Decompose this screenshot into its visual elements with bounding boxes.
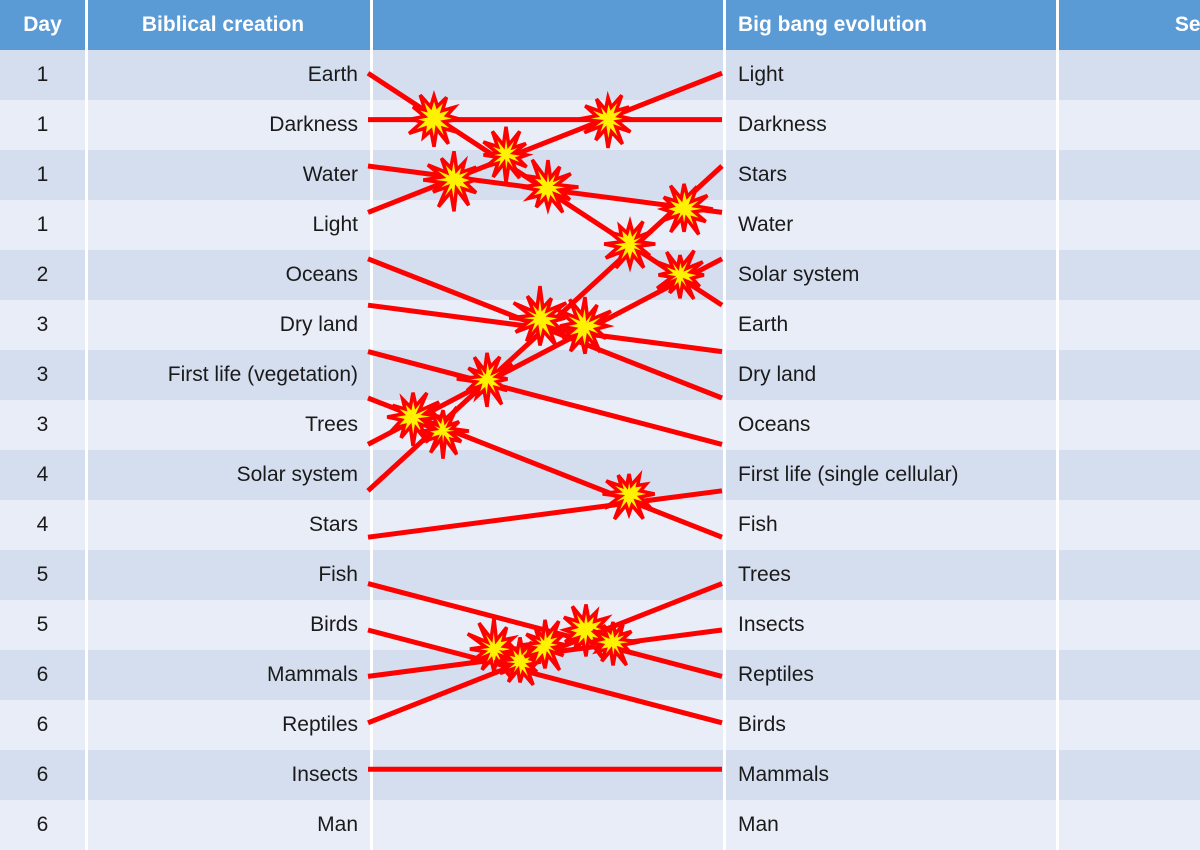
table-row-connector-11 xyxy=(373,550,723,600)
table-row-day-15: 6 xyxy=(0,750,85,800)
table-row-sequence-6: 6 xyxy=(1059,300,1200,350)
table-row-biblical-6: Dry land xyxy=(88,300,370,350)
table-row-bigbang-12: Insects xyxy=(726,600,1056,650)
table-row-biblical-7: First life (vegetation) xyxy=(88,350,370,400)
column-header-sequence: Sequence xyxy=(1059,0,1200,50)
table-row-bigbang-10: Fish xyxy=(726,500,1056,550)
table-row-connector-7 xyxy=(373,350,723,400)
column-header-biblical-creation: Biblical creation xyxy=(88,0,370,50)
column-header-big-bang-evolution: Big bang evolution xyxy=(726,0,1056,50)
table-row-connector-12 xyxy=(373,600,723,650)
table-row-sequence-5: 5 xyxy=(1059,250,1200,300)
comparison-table: DayBiblical creationBig bang evolutionSe… xyxy=(0,0,1200,792)
table-row-connector-5 xyxy=(373,250,723,300)
table-row-day-12: 5 xyxy=(0,600,85,650)
table-row-connector-14 xyxy=(373,700,723,750)
table-row-sequence-9: 9 xyxy=(1059,450,1200,500)
table-row-biblical-4: Light xyxy=(88,200,370,250)
column-header-connectors xyxy=(373,0,723,50)
column-header-day: Day xyxy=(0,0,85,50)
table-row-sequence-16: 16 xyxy=(1059,800,1200,850)
table-row-sequence-14: 14 xyxy=(1059,700,1200,750)
table-row-connector-9 xyxy=(373,450,723,500)
table-row-connector-10 xyxy=(373,500,723,550)
table-row-bigbang-16: Man xyxy=(726,800,1056,850)
table-row-day-7: 3 xyxy=(0,350,85,400)
table-row-biblical-8: Trees xyxy=(88,400,370,450)
table-row-connector-2 xyxy=(373,100,723,150)
table-row-bigbang-15: Mammals xyxy=(726,750,1056,800)
table-row-day-13: 6 xyxy=(0,650,85,700)
table-row-bigbang-2: Darkness xyxy=(726,100,1056,150)
table-row-day-4: 1 xyxy=(0,200,85,250)
table-row-biblical-5: Oceans xyxy=(88,250,370,300)
table-row-bigbang-4: Water xyxy=(726,200,1056,250)
table-row-biblical-16: Man xyxy=(88,800,370,850)
table-row-sequence-11: 11 xyxy=(1059,550,1200,600)
table-row-biblical-3: Water xyxy=(88,150,370,200)
table-row-connector-8 xyxy=(373,400,723,450)
table-row-sequence-15: 15 xyxy=(1059,750,1200,800)
table-row-day-8: 3 xyxy=(0,400,85,450)
table-row-day-6: 3 xyxy=(0,300,85,350)
table-row-connector-1 xyxy=(373,50,723,100)
table-row-day-10: 4 xyxy=(0,500,85,550)
table-row-sequence-3: 3 xyxy=(1059,150,1200,200)
table-row-biblical-10: Stars xyxy=(88,500,370,550)
table-row-bigbang-9: First life (single cellular) xyxy=(726,450,1056,500)
table-row-connector-13 xyxy=(373,650,723,700)
table-row-biblical-14: Reptiles xyxy=(88,700,370,750)
table-row-day-9: 4 xyxy=(0,450,85,500)
table-row-connector-6 xyxy=(373,300,723,350)
table-row-biblical-9: Solar system xyxy=(88,450,370,500)
table-row-sequence-12: 12 xyxy=(1059,600,1200,650)
table-row-connector-4 xyxy=(373,200,723,250)
table-row-day-1: 1 xyxy=(0,50,85,100)
table-row-bigbang-11: Trees xyxy=(726,550,1056,600)
table-row-sequence-8: 8 xyxy=(1059,400,1200,450)
table-row-biblical-11: Fish xyxy=(88,550,370,600)
table-row-connector-3 xyxy=(373,150,723,200)
table-row-sequence-10: 10 xyxy=(1059,500,1200,550)
table-row-bigbang-7: Dry land xyxy=(726,350,1056,400)
table-row-connector-15 xyxy=(373,750,723,800)
table-row-biblical-15: Insects xyxy=(88,750,370,800)
table-row-biblical-12: Birds xyxy=(88,600,370,650)
table-row-bigbang-1: Light xyxy=(726,50,1056,100)
table-row-day-5: 2 xyxy=(0,250,85,300)
table-row-sequence-4: 4 xyxy=(1059,200,1200,250)
table-row-bigbang-14: Birds xyxy=(726,700,1056,750)
table-row-day-14: 6 xyxy=(0,700,85,750)
table-row-day-2: 1 xyxy=(0,100,85,150)
table-row-day-11: 5 xyxy=(0,550,85,600)
table-row-bigbang-13: Reptiles xyxy=(726,650,1056,700)
table-row-bigbang-3: Stars xyxy=(726,150,1056,200)
table-row-sequence-7: 7 xyxy=(1059,350,1200,400)
table-row-biblical-2: Darkness xyxy=(88,100,370,150)
table-row-bigbang-8: Oceans xyxy=(726,400,1056,450)
table-row-sequence-2: 2 xyxy=(1059,100,1200,150)
creation-vs-evolution-comparison-table: DayBiblical creationBig bang evolutionSe… xyxy=(0,0,1200,792)
table-row-bigbang-6: Earth xyxy=(726,300,1056,350)
table-row-connector-16 xyxy=(373,800,723,850)
table-row-bigbang-5: Solar system xyxy=(726,250,1056,300)
table-row-sequence-1: 1 xyxy=(1059,50,1200,100)
table-row-biblical-1: Earth xyxy=(88,50,370,100)
table-row-day-16: 6 xyxy=(0,800,85,850)
table-row-sequence-13: 13 xyxy=(1059,650,1200,700)
table-row-biblical-13: Mammals xyxy=(88,650,370,700)
table-row-day-3: 1 xyxy=(0,150,85,200)
